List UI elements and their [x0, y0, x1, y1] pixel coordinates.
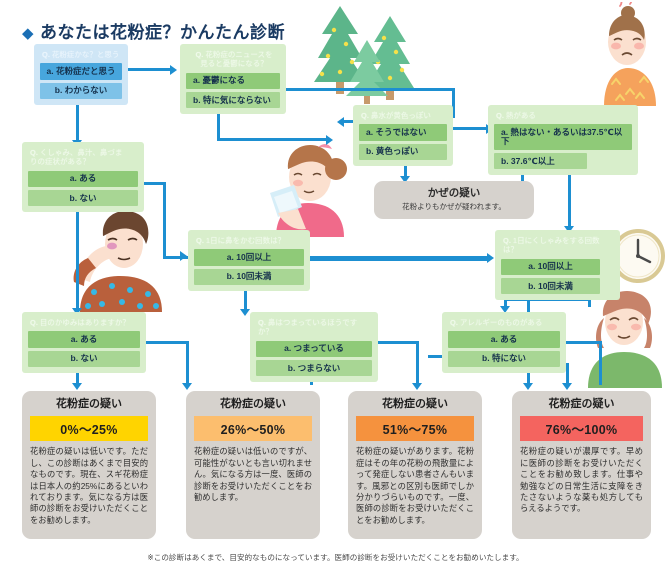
option-q7-b[interactable]: b. 10回未満: [501, 278, 600, 294]
connector-q10a-right: [566, 341, 602, 344]
q-marker: Q.: [503, 236, 511, 245]
result-1-percent: 0%～25%: [30, 416, 148, 441]
q-marker: Q.: [195, 50, 203, 59]
arrowhead-q2b: [326, 135, 333, 145]
arrowhead-q2a-q3: [337, 117, 344, 127]
connector-q5b-down: [76, 202, 79, 310]
option-q10-a[interactable]: a. ある: [448, 331, 560, 347]
option-q3-a[interactable]: a. そうではない: [359, 124, 447, 140]
q-marker: Q.: [30, 318, 38, 327]
question-card-q5[interactable]: Q.くしゃみ、鼻汁、鼻づま りの症状がある？ a. ある b. ない: [22, 142, 144, 212]
connector-q9a-right: [378, 341, 418, 344]
question-card-q3[interactable]: Q.鼻水が黄色っぽい a. そうではない b. 黄色っぽい: [353, 105, 453, 166]
option-q4-b[interactable]: b. 37.6℃以上: [494, 153, 587, 169]
result-4-title: 花粉症の疑い: [520, 398, 643, 411]
connector-q2b-down: [217, 112, 220, 140]
q-marker: Q.: [496, 111, 504, 120]
diagnostic-flowchart-page: ◆あなたは花粉症？かんたん診断: [0, 0, 671, 570]
q-marker: Q.: [30, 148, 38, 157]
man-eye-itch-illustration: [68, 200, 178, 315]
result-3-percent: 51%～75%: [356, 416, 474, 441]
option-q4-a[interactable]: a. 熱はない・あるいは37.5℃以下: [494, 124, 632, 150]
arrowhead-q6b-q9: [240, 309, 250, 316]
result-2-percent: 26%～50%: [194, 416, 312, 441]
option-q10-b[interactable]: b. 特にない: [448, 351, 560, 367]
q-marker: Q.: [450, 318, 458, 327]
question-q4-text: Q.熱がある: [496, 111, 632, 120]
option-q9-a[interactable]: a. つまっている: [256, 341, 372, 357]
result-card-4: 花粉症の疑い 76%～100% 花粉症の疑いが濃厚です。早めに医師の診断をお受け…: [512, 391, 651, 539]
question-q5-text: Q.くしゃみ、鼻汁、鼻づま りの症状がある？: [30, 148, 138, 167]
option-q2-b[interactable]: b. 特に気にならない: [186, 92, 280, 108]
connector-q8a-right: [146, 341, 188, 344]
arrowhead-q8a-result2: [182, 383, 192, 390]
option-q7-a[interactable]: a. 10回以上: [501, 259, 600, 275]
q-marker: Q.: [361, 111, 369, 120]
q-marker: Q.: [196, 236, 204, 245]
result-3-title: 花粉症の疑い: [356, 398, 474, 411]
connector-q9a-down: [416, 341, 419, 385]
option-q5-a[interactable]: a. ある: [28, 171, 138, 187]
connector-q10a-down: [599, 341, 602, 385]
connector-q2a-right: [286, 88, 454, 91]
connector-q8a-down: [186, 341, 189, 385]
option-q2-a[interactable]: a. 憂鬱になる: [186, 73, 280, 89]
fever-woman-illustration: [586, 2, 668, 112]
option-q8-b[interactable]: b. ない: [28, 351, 140, 367]
question-card-q8[interactable]: Q.目のかゆみはありますか？ a. ある b. ない: [22, 312, 146, 373]
question-card-q2[interactable]: Q.花粉症のニュースを 見ると憂鬱になる？ a. 憂鬱になる b. 特に気になら…: [180, 44, 286, 114]
question-card-q4[interactable]: Q.熱がある a. 熱はない・あるいは37.5℃以下 b. 37.6℃以上: [488, 105, 638, 175]
option-q1-b[interactable]: b. わからない: [40, 83, 122, 99]
connector-q2b-right: [217, 138, 327, 141]
question-q2-text: Q.花粉症のニュースを 見ると憂鬱になる？: [188, 50, 280, 69]
question-q9-text: Q.鼻はつまっているほうですか？: [258, 318, 372, 337]
q-marker: Q.: [258, 318, 266, 327]
result-card-2: 花粉症の疑い 26%～50% 花粉症の疑いは低いのですが、可能性がないとも言い切…: [186, 391, 320, 539]
result-card-3: 花粉症の疑い 51%～75% 花粉症の疑いがあります。花粉症はその年の花粉の飛散…: [348, 391, 482, 539]
cold-result-title: かぜの疑い: [378, 187, 530, 200]
option-q8-a[interactable]: a. ある: [28, 331, 140, 347]
question-q8-text: Q.目のかゆみはありますか？: [30, 318, 140, 327]
option-q6-b[interactable]: b. 10回未満: [194, 269, 304, 285]
question-card-q6[interactable]: Q.1日に鼻をかむ回数は？ a. 10回以上 b. 10回未満: [188, 230, 310, 291]
question-q10-text: Q.アレルギーのものがある: [450, 318, 560, 327]
option-q3-b[interactable]: b. 黄色っぽい: [359, 144, 447, 160]
page-title-text: あなたは花粉症？かんたん診断: [40, 23, 285, 42]
option-q5-b[interactable]: b. ない: [28, 190, 138, 206]
result-2-title: 花粉症の疑い: [194, 398, 312, 411]
result-2-body: 花粉症の疑いは低いのですが、可能性がないとも言い切れません。気になる方は一度、医…: [194, 446, 312, 503]
arrowhead-into-q6: [180, 251, 187, 261]
option-q1-a[interactable]: a. 花粉症だと思う: [40, 63, 122, 79]
result-3-body: 花粉症の疑いがあります。花粉症はその年の花粉の飛散量によって発症しない患者さんも…: [356, 446, 474, 526]
question-q3-text: Q.鼻水が黄色っぽい: [361, 111, 447, 120]
footer-disclaimer: ※この診断はあくまで、目安的なものになっています。医師の診断をお受けいただくこと…: [0, 552, 671, 563]
arrowhead-q7a-result4: [523, 383, 533, 390]
question-card-q7[interactable]: Q.1日にくしゃみをする回数は？ a. 10回以上 b. 10回未満: [495, 230, 620, 300]
connector-q3a-q4: [452, 127, 488, 130]
connector-q10b-down: [566, 363, 569, 385]
result-4-body: 花粉症の疑いが濃厚です。早めに医師の診断をお受けいただくことをお勧め致します。仕…: [520, 446, 643, 515]
arrowhead-q8b-result1: [72, 383, 82, 390]
question-card-q10[interactable]: Q.アレルギーのものがある a. ある b. 特にない: [442, 312, 566, 373]
page-title: ◆あなたは花粉症？かんたん診断: [22, 18, 285, 43]
option-q9-b[interactable]: b. つまらない: [256, 360, 372, 376]
diamond-icon: ◆: [22, 25, 34, 42]
arrowhead-q1a-q2: [170, 65, 177, 75]
question-q1-text: Q.花粉症かな？と思う: [42, 50, 122, 59]
result-1-title: 花粉症の疑い: [30, 398, 148, 411]
connector-q5a-down: [163, 182, 166, 258]
result-4-percent: 76%～100%: [520, 416, 643, 441]
connector-q6a-right: [310, 258, 490, 261]
q-marker: Q.: [42, 50, 50, 59]
result-1-body: 花粉症の疑いは低いです。ただし、この診断はあくまで目安的なものです。現在、スギ花…: [30, 446, 148, 526]
question-q7-text: Q.1日にくしゃみをする回数は？: [503, 236, 614, 255]
option-q6-a[interactable]: a. 10回以上: [194, 249, 304, 265]
result-card-cold: かぜの疑い 花粉よりもかぜが疑われます。: [374, 181, 534, 219]
cold-result-subtitle: 花粉よりもかぜが疑われます。: [378, 202, 530, 211]
question-q6-text: Q.1日に鼻をかむ回数は？: [196, 236, 304, 245]
arrowhead-q9a-result3: [412, 383, 422, 390]
girl-tissue-illustration: [258, 135, 363, 240]
question-card-q1[interactable]: Q.花粉症かな？と思う a. 花粉症だと思う b. わからない: [34, 44, 128, 105]
cedar-trees-illustration: [300, 0, 430, 108]
result-card-1: 花粉症の疑い 0%～25% 花粉症の疑いは低いです。ただし、この診断はあくまで目…: [22, 391, 156, 539]
connector-q1a-q2: [127, 68, 171, 71]
question-card-q9[interactable]: Q.鼻はつまっているほうですか？ a. つまっている b. つまらない: [250, 312, 378, 382]
